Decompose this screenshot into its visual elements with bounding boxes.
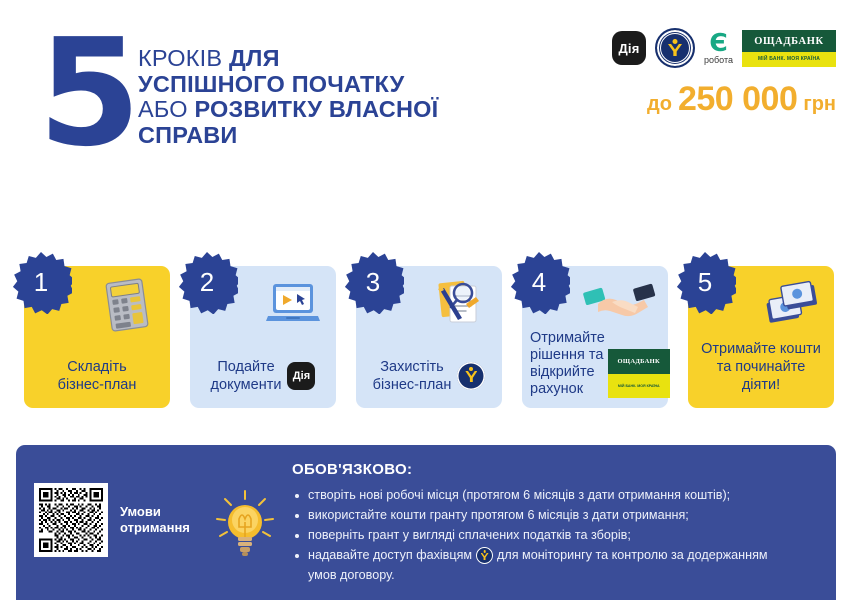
- oschadbank-name: ОЩАДБАНК: [742, 30, 836, 52]
- step-caption-3-text: Захистіть бізнес-план: [373, 358, 452, 394]
- step-number-4: 4: [532, 267, 546, 298]
- money-stack-icon: [758, 274, 824, 336]
- emblem-figure: [665, 38, 685, 58]
- step-caption-2-line2: документи: [211, 377, 282, 393]
- requirement-item-2: використайте кошти гранту протягом 6 міс…: [292, 507, 832, 524]
- diia-logo-label: Дія: [618, 41, 639, 56]
- step-caption-1: Складіть бізнес-план: [24, 358, 170, 408]
- requirement-item-4-part2: для моніторингу та контролю за додержанн…: [497, 548, 768, 562]
- step-caption-2: Подайте документи Дія: [190, 358, 336, 408]
- calculator-icon: [94, 274, 160, 336]
- step-caption-5-line2: та починайте: [717, 359, 806, 375]
- step-number-3: 3: [366, 267, 380, 298]
- employment-service-emblem-icon-inline: [476, 547, 493, 564]
- requirements-block: ОБОВ'ЯЗКОВО: створіть нові робочі місця …: [292, 461, 832, 587]
- page-title: КРОКІВ ДЛЯ УСПІШНОГО ПОЧАТКУ АБО РОЗВИТК…: [138, 46, 538, 148]
- step-caption-4: Отримайте рішення та відкрийте рахунок О…: [522, 330, 668, 408]
- diia-logo[interactable]: Дія: [612, 31, 646, 65]
- requirements-list: створіть нові робочі місця (протягом 6 м…: [292, 487, 832, 584]
- step-caption-4-line3: відкрийте: [530, 364, 595, 380]
- step-badge-5: 5: [674, 252, 736, 314]
- step-badge-1: 1: [10, 252, 72, 314]
- requirement-item-4-part1: надавайте доступ фахівцям: [308, 548, 472, 562]
- step-caption-1-line1: Складіть: [67, 359, 126, 375]
- requirement-item-4: надавайте доступ фахівцямдля моніторингу…: [292, 547, 832, 564]
- partner-logos: Дія Є робота ОЩАДБАНК МІЙ БАНК. МОЯ КРАЇ…: [612, 28, 836, 68]
- step-caption-5-line3: діяти!: [742, 377, 780, 393]
- step-caption-4-line2: рішення та: [530, 347, 603, 363]
- erobota-logo[interactable]: Є робота: [704, 31, 733, 65]
- requirements-title: ОБОВ'ЯЗКОВО:: [292, 461, 832, 478]
- steps-row: 1: [0, 252, 852, 422]
- step-caption-3-line1: Захистіть: [380, 359, 443, 375]
- handshake-card-icon: [580, 278, 660, 328]
- title-line-3-bold: РОЗВИТКУ ВЛАСНОЇ: [194, 96, 438, 122]
- diia-logo-step2[interactable]: Дія: [287, 362, 315, 390]
- infographic-root: 5 КРОКІВ ДЛЯ УСПІШНОГО ПОЧАТКУ АБО РОЗВИ…: [0, 0, 852, 600]
- emblem-figure-body: [481, 553, 489, 560]
- header: 5 КРОКІВ ДЛЯ УСПІШНОГО ПОЧАТКУ АБО РОЗВИ…: [0, 0, 852, 190]
- step-caption-4-line4: рахунок: [530, 381, 583, 397]
- step-caption-3-line2: бізнес-план: [373, 377, 452, 393]
- step-card-4[interactable]: 4 Отримайте рішення та відкрийте рахунок: [522, 266, 668, 408]
- qr-code[interactable]: [34, 483, 108, 557]
- step-caption-5: Отримайте кошти та починайте діяти!: [688, 340, 834, 408]
- step-card-3[interactable]: 3: [356, 266, 502, 408]
- step-caption-4-line1: Отримайте: [530, 330, 605, 346]
- big-number-5: 5: [38, 34, 135, 152]
- step-number-2: 2: [200, 267, 214, 298]
- step-caption-4-text: Отримайте рішення та відкрийте рахунок: [530, 330, 605, 398]
- qr-label-line2: отримання: [120, 520, 190, 535]
- requirement-item-1: створіть нові робочі місця (протягом 6 м…: [292, 487, 832, 504]
- oschadbank-tagline: МІЙ БАНК. МОЯ КРАЇНА: [608, 374, 670, 398]
- requirements-panel: Умови отримання: [16, 445, 836, 600]
- step-badge-2: 2: [176, 252, 238, 314]
- title-line-1-normal: КРОКІВ: [138, 45, 229, 71]
- lightbulb-icon: [212, 489, 278, 563]
- amount-value: 250 000: [678, 82, 797, 116]
- emblem-figure-head: [673, 39, 678, 44]
- title-line-4: СПРАВИ: [138, 122, 238, 148]
- laptop-icon: [260, 274, 326, 336]
- amount-prefix: до: [647, 93, 672, 116]
- employment-service-emblem-icon[interactable]: [655, 28, 695, 68]
- step-badge-3: 3: [342, 252, 404, 314]
- grant-amount: до 250 000 грн: [647, 82, 836, 116]
- step-caption-2-text: Подайте документи: [211, 358, 282, 394]
- emblem-figure-head: [483, 550, 486, 553]
- step-caption-3: Захистіть бізнес-план: [356, 358, 502, 408]
- title-line-2: УСПІШНОГО ПОЧАТКУ: [138, 71, 404, 97]
- erobota-caption: робота: [704, 55, 733, 65]
- requirement-item-4-continued: умов договору.: [292, 567, 832, 584]
- step-number-1: 1: [34, 267, 48, 298]
- title-line-1-bold: ДЛЯ: [229, 45, 280, 71]
- qr-label-line1: Умови: [120, 504, 161, 519]
- oschadbank-tagline: МІЙ БАНК. МОЯ КРАЇНА: [742, 52, 836, 67]
- documents-magnifier-icon: [426, 274, 492, 336]
- step-caption-1-line2: бізнес-план: [58, 377, 137, 393]
- qr-block[interactable]: Умови отримання: [34, 483, 190, 557]
- step-card-2[interactable]: 2 Подайте документи Дія: [190, 266, 336, 408]
- step-caption-2-line1: Подайте: [217, 359, 274, 375]
- oschadbank-name: ОЩАДБАНК: [608, 349, 670, 374]
- step-caption-5-line1: Отримайте кошти: [701, 341, 821, 357]
- emblem-figure-body: [668, 44, 682, 56]
- amount-currency: грн: [803, 93, 836, 116]
- employment-service-emblem-icon-step3[interactable]: [457, 362, 485, 390]
- oschadbank-logo-step4[interactable]: ОЩАДБАНК МІЙ БАНК. МОЯ КРАЇНА: [608, 349, 670, 398]
- erobota-glyph-icon: Є: [709, 31, 727, 55]
- emblem-figure-body: [465, 371, 477, 382]
- requirement-item-3: поверніть грант у вигляді сплачених пода…: [292, 527, 832, 544]
- qr-label: Умови отримання: [120, 504, 190, 536]
- title-line-3-normal: АБО: [138, 96, 194, 122]
- step-card-5[interactable]: 5 Отримайте кошти та починайте: [688, 266, 834, 408]
- step-number-5: 5: [698, 267, 712, 298]
- oschadbank-logo[interactable]: ОЩАДБАНК МІЙ БАНК. МОЯ КРАЇНА: [742, 30, 836, 67]
- step-badge-4: 4: [508, 252, 570, 314]
- step-card-1[interactable]: 1: [24, 266, 170, 408]
- emblem-figure-head: [469, 367, 473, 371]
